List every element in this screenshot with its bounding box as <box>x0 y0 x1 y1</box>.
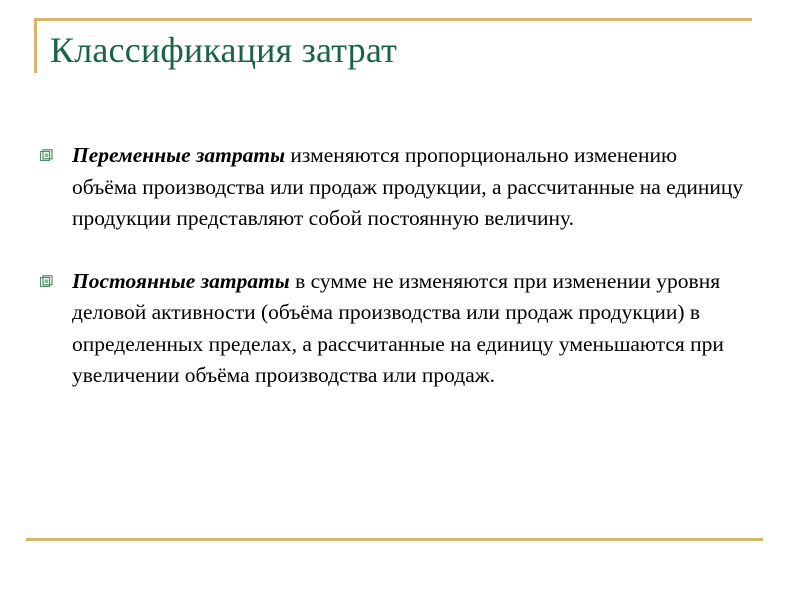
slide-body: Переменные затраты изменяются пропорцион… <box>40 140 746 392</box>
small-square-bullet-icon <box>40 140 70 162</box>
page-title: Классификация затрат <box>50 28 750 72</box>
bullet-item-fixed-costs: Постоянные затраты в сумме не изменяются… <box>40 266 746 392</box>
bullet-text: Постоянные затраты в сумме не изменяются… <box>70 266 746 392</box>
slide: Классификация затрат Переменные затраты … <box>0 0 800 600</box>
bottom-rule-decoration <box>26 538 763 541</box>
small-square-bullet-icon <box>40 266 70 288</box>
top-rule-decoration <box>34 18 752 21</box>
bullet-item-variable-costs: Переменные затраты изменяются пропорцион… <box>40 140 746 235</box>
bullet-lead-term: Постоянные затраты <box>72 269 290 293</box>
bullet-text: Переменные затраты изменяются пропорцион… <box>70 140 746 235</box>
left-rule-decoration <box>34 18 37 73</box>
bullet-lead-term: Переменные затраты <box>72 143 285 167</box>
